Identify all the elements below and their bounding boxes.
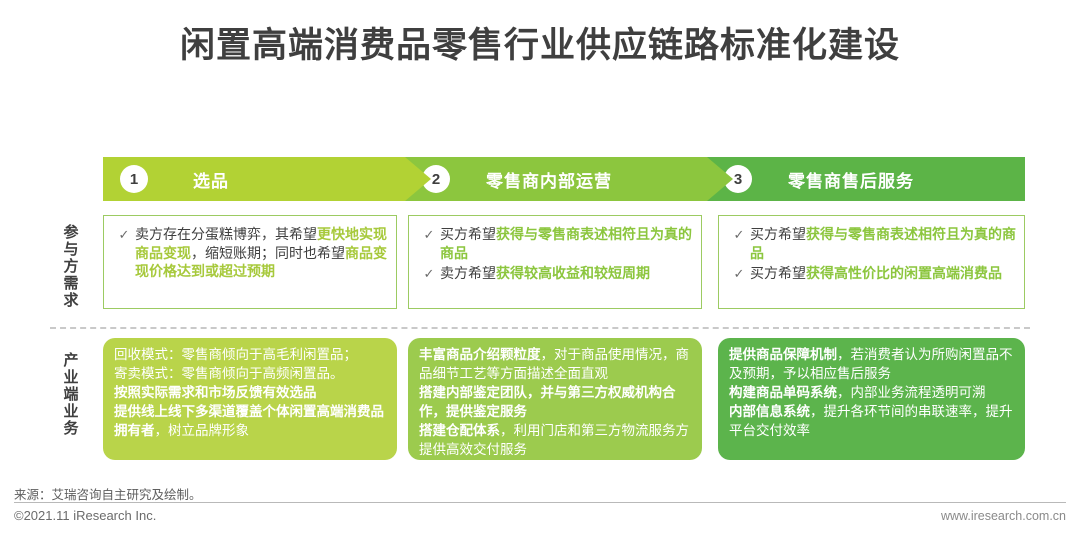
- demand-item-text: 卖方希望获得较高收益和较短周期: [440, 264, 694, 283]
- check-icon: ✓: [728, 225, 750, 244]
- row-label-industry: 产业端业务: [58, 352, 84, 437]
- business-box-2: 丰富商品介绍颗粒度，对于商品使用情况，商品细节工艺等方面描述全面直观搭建内部鉴定…: [408, 338, 702, 460]
- website-link[interactable]: www.iresearch.com.cn: [941, 509, 1066, 523]
- process-flow-header: 1 选品 2 零售商内部运营 3 零售商售后服务: [103, 157, 1025, 201]
- business-line: 丰富商品介绍颗粒度，对于商品使用情况，商品细节工艺等方面描述全面直观: [419, 345, 693, 383]
- demand-item-text: 卖方存在分蛋糕博弈，其希望更快地实现商品变现，缩短账期；同时也希望商品变现价格达…: [135, 225, 389, 281]
- demand-box-1: ✓卖方存在分蛋糕博弈，其希望更快地实现商品变现，缩短账期；同时也希望商品变现价格…: [103, 215, 397, 309]
- business-line: 构建商品单码系统，内部业务流程透明可溯: [729, 383, 1016, 402]
- flow-step-1-label: 选品: [193, 167, 229, 192]
- flow-step-3[interactable]: 3 零售商售后服务: [707, 157, 1025, 201]
- demand-item-text: 买方希望获得与零售商表述相符且为真的商品: [440, 225, 694, 262]
- section-divider: [50, 327, 1030, 329]
- demand-item-text: 买方希望获得高性价比的闲置高端消费品: [750, 264, 1017, 283]
- business-line: 搭建仓配体系，利用门店和第三方物流服务方提供高效交付服务: [419, 421, 693, 459]
- demand-item: ✓卖方希望获得较高收益和较短周期: [418, 264, 694, 283]
- business-line: 提供线上线下多渠道覆盖个体闲置高端消费品拥有者，树立品牌形象: [114, 402, 388, 440]
- business-line: 回收模式：零售商倾向于高毛利闲置品；: [114, 345, 388, 364]
- business-line: 内部信息系统，提升各环节间的串联速率，提升平台交付效率: [729, 402, 1016, 440]
- demand-item: ✓卖方存在分蛋糕博弈，其希望更快地实现商品变现，缩短账期；同时也希望商品变现价格…: [113, 225, 389, 281]
- row-label-demand: 参与方需求: [58, 224, 84, 309]
- flow-step-2[interactable]: 2 零售商内部运营: [405, 157, 733, 201]
- flow-step-2-label: 零售商内部运营: [486, 167, 612, 192]
- demand-box-2: ✓买方希望获得与零售商表述相符且为真的商品✓卖方希望获得较高收益和较短周期: [408, 215, 702, 309]
- check-icon: ✓: [113, 225, 135, 244]
- check-icon: ✓: [418, 264, 440, 283]
- business-box-3: 提供商品保障机制，若消费者认为所购闲置品不及预期，予以相应售后服务构建商品单码系…: [718, 338, 1025, 460]
- business-line: 提供商品保障机制，若消费者认为所购闲置品不及预期，予以相应售后服务: [729, 345, 1016, 383]
- copyright-text: ©2021.11 iResearch Inc.: [14, 508, 156, 523]
- page-title: 闲置高端消费品零售行业供应链路标准化建设: [0, 22, 1080, 70]
- check-icon: ✓: [728, 264, 750, 283]
- demand-box-3: ✓买方希望获得与零售商表述相符且为真的商品✓买方希望获得高性价比的闲置高端消费品: [718, 215, 1025, 309]
- demand-item-text: 买方希望获得与零售商表述相符且为真的商品: [750, 225, 1017, 262]
- business-box-1: 回收模式：零售商倾向于高毛利闲置品；寄卖模式：零售商倾向于高频闲置品。按照实际需…: [103, 338, 397, 460]
- business-line: 搭建内部鉴定团队，并与第三方权威机构合作，提供鉴定服务: [419, 383, 693, 421]
- demand-item: ✓买方希望获得与零售商表述相符且为真的商品: [418, 225, 694, 262]
- flow-step-3-label: 零售商售后服务: [788, 167, 914, 192]
- source-note: 来源：艾瑞咨询自主研究及绘制。: [14, 484, 202, 503]
- check-icon: ✓: [418, 225, 440, 244]
- demand-item: ✓买方希望获得与零售商表述相符且为真的商品: [728, 225, 1017, 262]
- business-line: 寄卖模式：零售商倾向于高频闲置品。: [114, 364, 388, 383]
- footer-divider: [14, 502, 1066, 503]
- flow-step-1[interactable]: 1 选品: [103, 157, 431, 201]
- flow-step-1-number: 1: [120, 165, 148, 193]
- demand-item: ✓买方希望获得高性价比的闲置高端消费品: [728, 264, 1017, 283]
- business-line: 按照实际需求和市场反馈有效选品: [114, 383, 388, 402]
